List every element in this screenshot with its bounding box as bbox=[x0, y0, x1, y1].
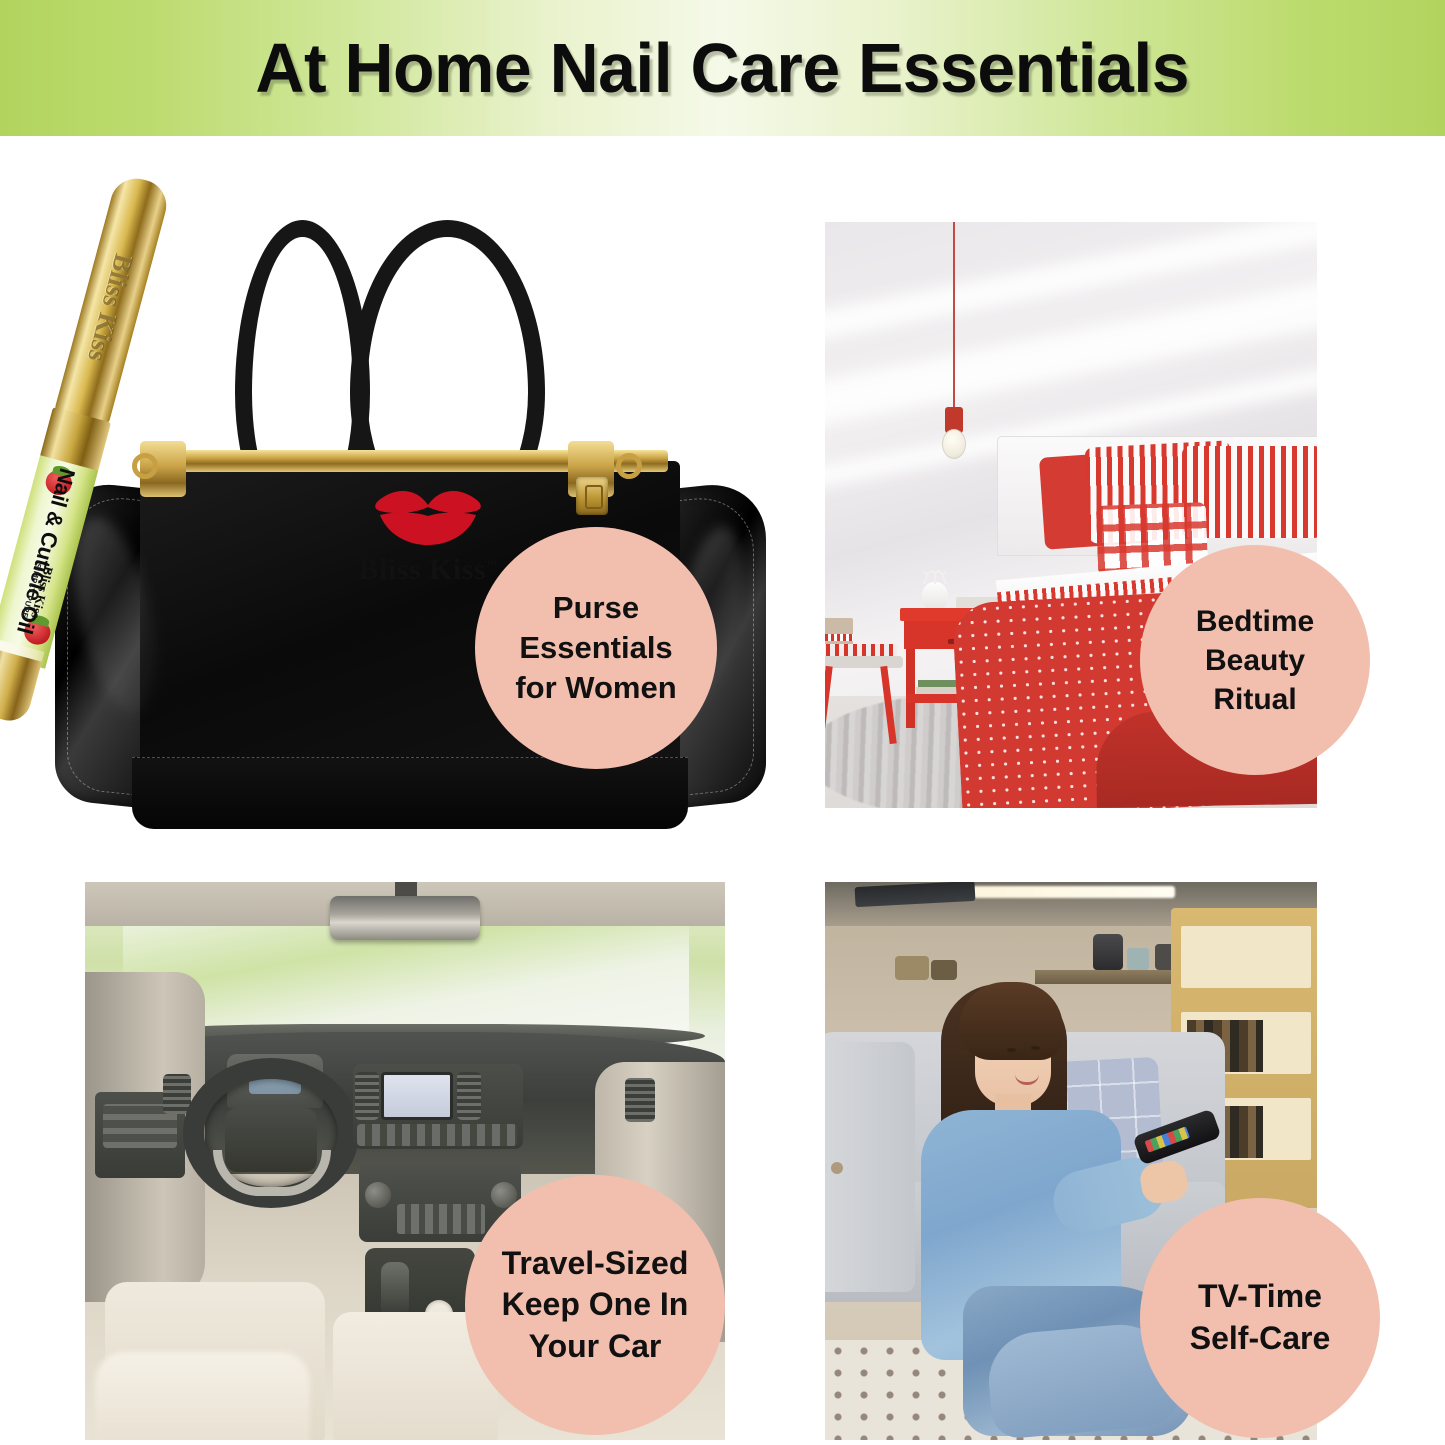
badge-line: Travel-Sized bbox=[502, 1243, 689, 1285]
purse-product-photo: Bliss Kiss™ Bliss Kiss Nail & Cuticle Oi… bbox=[20, 185, 780, 865]
seat-headrest bbox=[95, 1352, 310, 1440]
light-bulb-icon bbox=[942, 429, 966, 459]
pen-barrel bbox=[0, 649, 42, 726]
red-lips-icon bbox=[372, 485, 484, 547]
nightstand-leg bbox=[906, 649, 915, 728]
brand-logo: Bliss Kiss™ bbox=[338, 485, 518, 587]
air-vent bbox=[355, 1072, 379, 1120]
badge-line: Bedtime bbox=[1196, 602, 1314, 641]
gear-shifter bbox=[381, 1262, 409, 1314]
page-title: At Home Nail Care Essentials bbox=[256, 28, 1190, 108]
mug bbox=[1127, 948, 1149, 970]
badge-line: Keep One In bbox=[502, 1284, 689, 1326]
badge-travel-sized: Travel-Sized Keep One In Your Car bbox=[465, 1175, 725, 1435]
bedroom-stool bbox=[825, 626, 903, 736]
infographic-page: At Home Nail Care Essentials bbox=[0, 0, 1445, 1445]
purse-ring-right bbox=[616, 453, 642, 479]
badge-purse-essentials: Purse Essentials for Women bbox=[475, 527, 717, 769]
climate-knob bbox=[365, 1182, 391, 1208]
eye bbox=[1031, 1046, 1040, 1050]
purse-lock-icon bbox=[576, 477, 608, 515]
badge-line: Your Car bbox=[529, 1326, 662, 1368]
stool-leg bbox=[825, 666, 833, 744]
pen-cap: Bliss Kiss bbox=[55, 173, 173, 424]
brand-logo-text: Bliss Kiss™ bbox=[338, 553, 518, 587]
badge-line: Essentials bbox=[519, 628, 672, 668]
badge-line: Purse bbox=[553, 588, 639, 628]
air-vent bbox=[625, 1078, 655, 1122]
badge-line: Beauty bbox=[1205, 641, 1305, 680]
infotainment-screen bbox=[381, 1072, 453, 1120]
badge-line: Self-Care bbox=[1190, 1318, 1331, 1360]
header-banner: At Home Nail Care Essentials bbox=[0, 0, 1445, 136]
badge-line: Ritual bbox=[1213, 680, 1296, 719]
rearview-mirror bbox=[330, 896, 480, 940]
antler-decor-icon bbox=[918, 570, 952, 584]
purse-ring-left bbox=[132, 453, 158, 479]
kettle-icon bbox=[1093, 934, 1123, 970]
ceiling-light bbox=[955, 886, 1175, 898]
stool-leg bbox=[880, 666, 896, 744]
pen-cap-brand-text: Bliss Kiss bbox=[52, 182, 170, 433]
stool-seat bbox=[825, 656, 903, 668]
badge-line: TV-Time bbox=[1198, 1276, 1322, 1318]
air-vent bbox=[457, 1072, 481, 1120]
badge-line: for Women bbox=[515, 668, 676, 708]
sofa-armrest bbox=[825, 1042, 915, 1292]
badge-tv-time: TV-Time Self-Care bbox=[1140, 1198, 1380, 1438]
pendant-cord bbox=[953, 222, 955, 410]
eye bbox=[1007, 1048, 1016, 1052]
stereo-buttons bbox=[357, 1124, 517, 1146]
badge-bedtime-beauty: Bedtime Beauty Ritual bbox=[1140, 545, 1370, 775]
climate-buttons bbox=[397, 1204, 485, 1234]
